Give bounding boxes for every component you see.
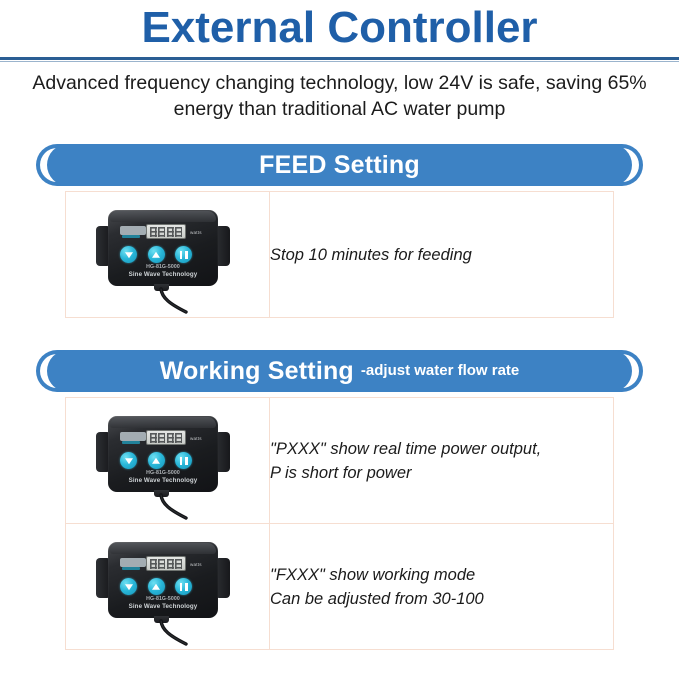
page-subtitle: Advanced frequency changing technology, … bbox=[10, 70, 670, 122]
up-arrow-button[interactable] bbox=[148, 578, 165, 595]
device-cell: watts HG-81G-5000 Sine Wave Technology bbox=[66, 192, 270, 318]
description-line: "PXXX" show real time power output, bbox=[270, 437, 613, 461]
description-cell: "PXXX" show real time power output, P is… bbox=[270, 398, 614, 524]
page-header: External Controller Advanced frequency c… bbox=[0, 0, 679, 122]
working-setting-table: watts HG-81G-5000 Sine Wave Technology "… bbox=[65, 397, 614, 650]
watts-label: watts bbox=[190, 436, 202, 442]
device-tagline-label: Sine Wave Technology bbox=[94, 271, 232, 279]
down-arrow-icon bbox=[125, 584, 133, 590]
device-button-row bbox=[120, 246, 192, 263]
device-brand-logo bbox=[120, 432, 146, 441]
device-power-cable bbox=[152, 495, 212, 519]
down-arrow-icon bbox=[125, 458, 133, 464]
description-line: "FXXX" show working mode bbox=[270, 563, 613, 587]
pause-button[interactable] bbox=[175, 578, 192, 595]
led-digit bbox=[150, 433, 157, 443]
led-display bbox=[146, 224, 186, 239]
device-lid bbox=[110, 543, 216, 554]
controller-device-image: watts HG-81G-5000 Sine Wave Technology bbox=[94, 206, 232, 306]
device-button-row bbox=[120, 452, 192, 469]
pause-button[interactable] bbox=[175, 246, 192, 263]
feed-setting-table: watts HG-81G-5000 Sine Wave Technology S… bbox=[65, 191, 614, 318]
led-digit bbox=[167, 227, 174, 237]
description-line: P is short for power bbox=[270, 461, 613, 485]
watts-label: watts bbox=[190, 562, 202, 568]
title-divider-rule bbox=[0, 57, 679, 60]
device-lid bbox=[110, 211, 216, 222]
led-display bbox=[146, 430, 186, 445]
down-arrow-button[interactable] bbox=[120, 452, 137, 469]
down-arrow-button[interactable] bbox=[120, 578, 137, 595]
up-arrow-button[interactable] bbox=[148, 246, 165, 263]
controller-device-image: watts HG-81G-5000 Sine Wave Technology bbox=[94, 412, 232, 512]
device-tagline-label: Sine Wave Technology bbox=[94, 603, 232, 611]
device-power-cable bbox=[152, 289, 212, 313]
section-banner-working: Working Setting -adjust water flow rate bbox=[36, 350, 643, 392]
banner-title-feed: FEED Setting bbox=[259, 151, 420, 179]
device-brand-underline bbox=[122, 567, 140, 570]
led-digit bbox=[175, 433, 182, 443]
device-tagline-label: Sine Wave Technology bbox=[94, 477, 232, 485]
pause-icon bbox=[180, 583, 188, 591]
description-line: Can be adjusted from 30-100 bbox=[270, 587, 613, 611]
device-brand-logo bbox=[120, 558, 146, 567]
led-digit bbox=[175, 227, 182, 237]
led-digit bbox=[167, 433, 174, 443]
led-digit bbox=[158, 433, 165, 443]
table-row: watts HG-81G-5000 Sine Wave Technology "… bbox=[66, 524, 614, 650]
page-title: External Controller bbox=[0, 2, 679, 54]
device-model-label: HG-81G-5000 bbox=[94, 264, 232, 271]
led-display bbox=[146, 556, 186, 571]
down-arrow-icon bbox=[125, 252, 133, 258]
led-digit bbox=[158, 227, 165, 237]
device-lid bbox=[110, 417, 216, 428]
device-button-row bbox=[120, 578, 192, 595]
controller-device-image: watts HG-81G-5000 Sine Wave Technology bbox=[94, 538, 232, 638]
device-model-label: HG-81G-5000 bbox=[94, 596, 232, 603]
down-arrow-button[interactable] bbox=[120, 246, 137, 263]
description-cell: Stop 10 minutes for feeding bbox=[270, 192, 614, 318]
banner-title-working: Working Setting bbox=[160, 357, 354, 385]
device-cell: watts HG-81G-5000 Sine Wave Technology bbox=[66, 524, 270, 650]
table-row: watts HG-81G-5000 Sine Wave Technology "… bbox=[66, 398, 614, 524]
section-banner-feed: FEED Setting bbox=[36, 144, 643, 186]
up-arrow-button[interactable] bbox=[148, 452, 165, 469]
description-line: Stop 10 minutes for feeding bbox=[270, 243, 613, 267]
pause-icon bbox=[180, 251, 188, 259]
table-row: watts HG-81G-5000 Sine Wave Technology S… bbox=[66, 192, 614, 318]
device-brand-logo bbox=[120, 226, 146, 235]
banner-subtitle-working: -adjust water flow rate bbox=[361, 361, 519, 382]
pause-icon bbox=[180, 457, 188, 465]
title-divider-rule-thin bbox=[0, 61, 679, 62]
device-model-label: HG-81G-5000 bbox=[94, 470, 232, 477]
led-digit bbox=[150, 559, 157, 569]
banner-pill: FEED Setting bbox=[47, 144, 632, 186]
led-digit bbox=[167, 559, 174, 569]
up-arrow-icon bbox=[152, 583, 160, 589]
led-digit bbox=[175, 559, 182, 569]
led-digit bbox=[158, 559, 165, 569]
device-brand-underline bbox=[122, 441, 140, 444]
device-cell: watts HG-81G-5000 Sine Wave Technology bbox=[66, 398, 270, 524]
device-brand-underline bbox=[122, 235, 140, 238]
up-arrow-icon bbox=[152, 457, 160, 463]
up-arrow-icon bbox=[152, 251, 160, 257]
device-power-cable bbox=[152, 621, 212, 645]
led-digit bbox=[150, 227, 157, 237]
watts-label: watts bbox=[190, 230, 202, 236]
banner-pill: Working Setting -adjust water flow rate bbox=[47, 350, 632, 392]
description-cell: "FXXX" show working mode Can be adjusted… bbox=[270, 524, 614, 650]
pause-button[interactable] bbox=[175, 452, 192, 469]
